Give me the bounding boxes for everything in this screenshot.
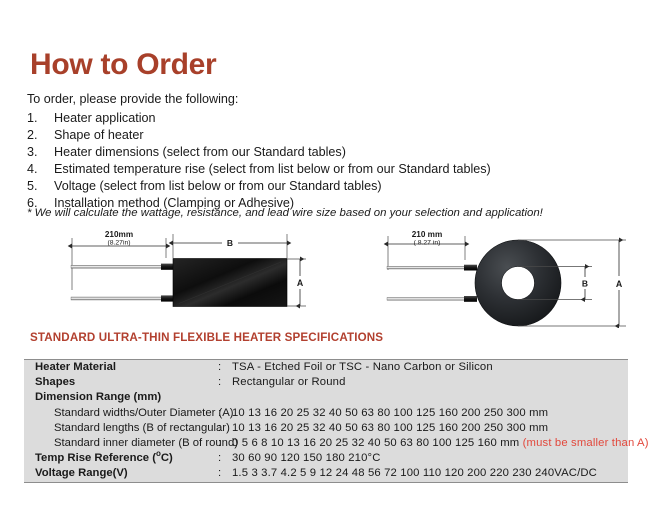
- row-colon: :: [218, 451, 232, 466]
- footnote-text: * We will calculate the wattage, resista…: [27, 206, 543, 220]
- round-outer-label: A: [616, 279, 623, 289]
- list-item-label: Shape of heater: [54, 127, 627, 144]
- table-row: Heater Material : TSA - Etched Foil or T…: [24, 360, 628, 375]
- spec-section-heading: STANDARD ULTRA-THIN FLEXIBLE HEATER SPEC…: [30, 331, 383, 344]
- row-colon: :: [218, 360, 232, 375]
- rect-width-label: B: [227, 238, 233, 248]
- round-lead-length-mm: 210 mm: [412, 230, 443, 239]
- list-item-label: Heater dimensions (select from our Stand…: [54, 144, 627, 161]
- row-colon: :: [218, 436, 232, 451]
- table-row: Standard inner diameter (B of round) : 0…: [24, 436, 628, 451]
- list-item-label: Estimated temperature rise (select from …: [54, 161, 627, 178]
- list-item-label: Voltage (select from list below or from …: [54, 178, 627, 195]
- list-item: 5. Voltage (select from list below or fr…: [27, 178, 627, 195]
- list-item: 2. Shape of heater: [27, 127, 627, 144]
- list-item-number: 5.: [27, 178, 54, 195]
- round-inner-label: B: [582, 279, 588, 289]
- rect-height-label: A: [297, 278, 304, 288]
- row-label: Standard widths/Outer Diameter (A): [24, 406, 218, 421]
- row-value: Rectangular or Round: [232, 375, 628, 390]
- row-value: TSA - Etched Foil or TSC - Nano Carbon o…: [232, 360, 628, 375]
- row-label: Dimension Range (mm): [24, 390, 218, 405]
- row-label: Standard lengths (B of rectangular): [24, 421, 218, 436]
- spec-table: Heater Material : TSA - Etched Foil or T…: [24, 359, 628, 483]
- row-value: 30 60 90 120 150 180 210°C: [232, 451, 628, 466]
- rect-lead-length-in: (8.27in): [107, 240, 130, 247]
- table-row: Shapes : Rectangular or Round: [24, 375, 628, 390]
- row-label: Shapes: [24, 375, 218, 390]
- list-item-number: 3.: [27, 144, 54, 161]
- list-item: 3. Heater dimensions (select from our St…: [27, 144, 627, 161]
- table-row: Temp Rise Reference (oC) : 30 60 90 120 …: [24, 451, 628, 466]
- intro-text: To order, please provide the following:: [27, 92, 238, 106]
- table-row: Voltage Range(V) : 1.5 3 3.7 4.2 5 9 12 …: [24, 466, 628, 481]
- row-label: Voltage Range(V): [24, 466, 218, 481]
- list-item-label: Heater application: [54, 110, 627, 127]
- rectangular-heater-diagram: 210mm (8.27in) B A: [71, 230, 307, 307]
- row-value: 1.5 3 3.7 4.2 5 9 12 24 48 56 72 100 110…: [232, 466, 628, 481]
- list-item-number: 1.: [27, 110, 54, 127]
- heater-diagram-svg: 210mm (8.27in) B A: [0, 228, 650, 328]
- row-value: 10 13 16 20 25 32 40 50 63 80 100 125 16…: [232, 406, 628, 421]
- list-item: 1. Heater application: [27, 110, 627, 127]
- list-item-number: 4.: [27, 161, 54, 178]
- row-value-wrap: 0 5 6 8 10 13 16 20 25 32 40 50 63 80 10…: [232, 436, 649, 451]
- row-colon: :: [218, 406, 232, 421]
- page-title: How to Order: [30, 50, 216, 80]
- table-row: Dimension Range (mm): [24, 390, 628, 405]
- rect-lead-length-mm: 210mm: [105, 230, 133, 239]
- row-value: 0 5 6 8 10 13 16 20 25 32 40 50 63 80 10…: [232, 437, 519, 449]
- row-value: 10 13 16 20 25 32 40 50 63 80 100 125 16…: [232, 421, 628, 436]
- row-colon: :: [218, 375, 232, 390]
- order-requirements-list: 1. Heater application 2. Shape of heater…: [27, 110, 627, 212]
- row-colon: :: [218, 421, 232, 436]
- list-item-number: 2.: [27, 127, 54, 144]
- table-row: Standard widths/Outer Diameter (A) : 10 …: [24, 406, 628, 421]
- row-label: Heater Material: [24, 360, 218, 375]
- row-colon: :: [218, 466, 232, 481]
- heater-diagrams: 210mm (8.27in) B A: [0, 228, 650, 328]
- round-lead-length-in: ( 8.27 in): [414, 240, 441, 247]
- row-label-head: Temp Rise Reference (: [35, 452, 156, 464]
- row-label: Standard inner diameter (B of round): [24, 436, 218, 451]
- round-heater-diagram: 210 mm ( 8.27 in) B A: [387, 230, 627, 326]
- list-item: 4. Estimated temperature rise (select fr…: [27, 161, 627, 178]
- round-heater-hole: [502, 267, 535, 300]
- row-label-tail: C): [161, 452, 173, 464]
- row-value-note: (must be smaller than A): [523, 437, 649, 449]
- row-label: Temp Rise Reference (oC): [24, 451, 218, 466]
- table-row: Standard lengths (B of rectangular) : 10…: [24, 421, 628, 436]
